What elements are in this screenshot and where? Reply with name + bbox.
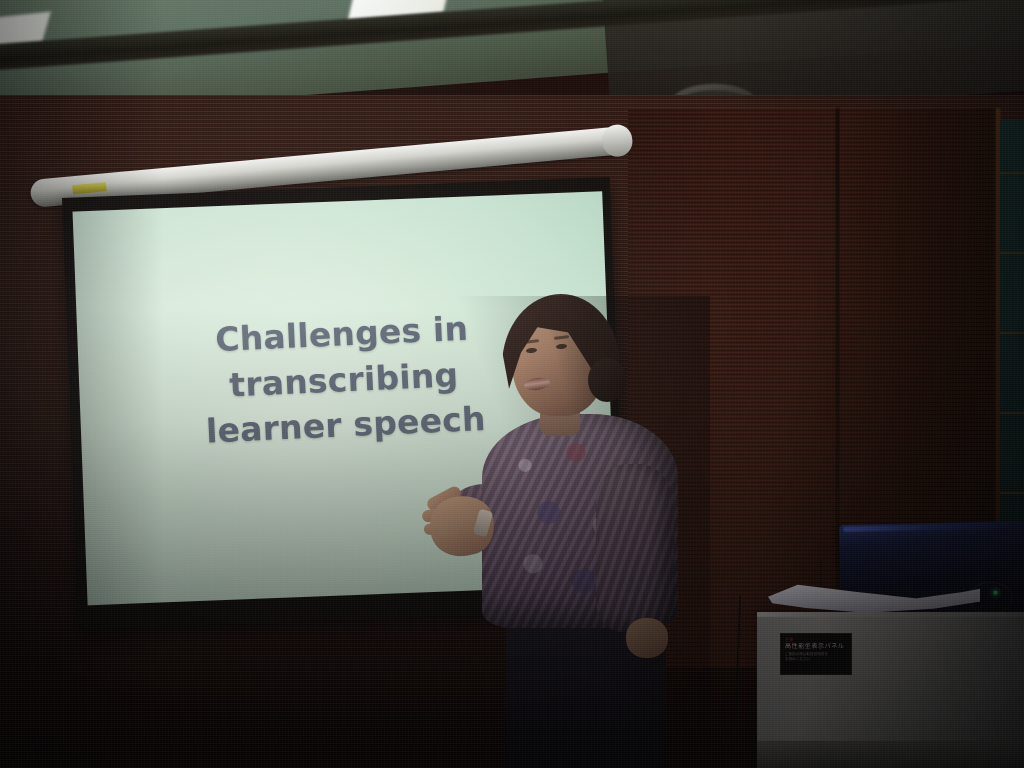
lectern-top-edge [757,612,1024,617]
label-main-text: 高性能型表示パネル [785,643,847,652]
window-mullion [1000,412,1024,414]
lectern-base [757,741,1024,768]
label-sub-text-2: お読みください [785,657,847,662]
wall-seam [836,108,839,668]
window-mullion [1000,172,1024,174]
power-led-icon [993,591,997,595]
laptop-lid-highlight [843,523,1017,532]
presenter-sleeve [596,464,674,632]
presenter-left-hand [626,618,668,658]
lecture-room-photo: Challenges in transcribing learner speec… [0,0,1024,768]
presenter-hair-bun [588,358,626,402]
lectern: 注意 高性能型表示パネル ご使用の際は取扱説明書を お読みください [757,612,1024,768]
window-mullion [1000,492,1024,494]
lectern-label-plate: 注意 高性能型表示パネル ご使用の際は取扱説明書を お読みください [780,633,852,675]
window-grid [1000,120,1024,590]
window-mullion [1000,332,1024,334]
presenter [420,296,710,768]
window-mullion [1000,252,1024,254]
power-cable [733,596,767,768]
